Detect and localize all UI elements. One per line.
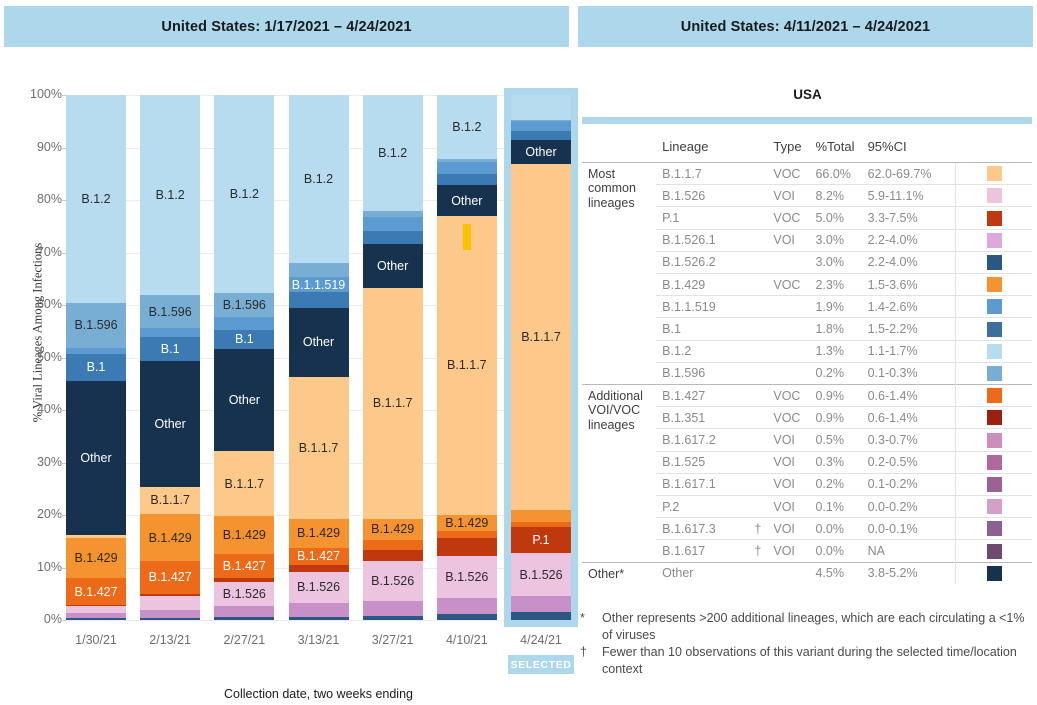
bar-segment-label: B.1.429 [445,516,488,530]
cell-confidence-interval: 0.0-0.1% [862,518,956,540]
bar-segment-B.1.1.519[interactable] [363,217,423,231]
bar-segment-B.1.526.2[interactable] [363,616,423,620]
lineage-table-panel: USA LineageType%Total95%CIMostcommonline… [578,55,1037,705]
cell-lineage: B.1.617 [656,540,748,562]
bar-segment-label: B.1.427 [74,585,117,599]
x-tick-label[interactable]: 2/13/21 [130,633,210,647]
bar-segment-B.1.526.2[interactable] [437,614,497,620]
cell-confidence-interval: 0.0-0.2% [862,496,956,518]
y-tick-label: 60% [16,297,62,311]
cell-lineage: B.1.429 [656,274,748,296]
bar-segment-B.1.1.519[interactable] [214,317,274,330]
cell-lineage: P.1 [656,207,748,229]
cell-dagger: † [748,518,767,540]
bar-segment-B.1.526.2[interactable] [214,617,274,620]
cell-lineage: B.1.1.7 [656,163,748,185]
cell-percent-total: 5.0% [809,207,861,229]
cell-confidence-interval: 0.3-0.7% [862,429,956,451]
cell-lineage: B.1.427 [656,385,748,407]
bar-segment-B.1.526.1[interactable] [289,603,349,617]
bar-segment-label: B.1.526 [223,587,266,601]
cell-type: VOI [767,518,809,540]
x-axis-title: Collection date, two weeks ending [66,687,571,701]
cell-lineage: B.1.526 [656,185,748,207]
bar-segment-B.1.596[interactable] [437,159,497,162]
x-tick-label[interactable]: 1/30/21 [56,633,136,647]
bar-segment-P.1[interactable] [363,550,423,562]
col-swatch [956,135,1032,163]
x-tick-label[interactable]: 4/10/21 [427,633,507,647]
bar-segment-label: B.1 [87,360,106,374]
cell-percent-total: 0.9% [809,407,861,429]
legend-swatch [987,255,1002,270]
legend-swatch [987,166,1002,181]
col-pct: %Total [809,135,861,163]
cell-confidence-interval: 0.1-0.3% [862,362,956,384]
bar-segment-B.1.429[interactable]: B.1.429 [66,538,126,578]
cell-confidence-interval: NA [862,540,956,562]
legend-swatch [987,566,1002,581]
cell-confidence-interval: 1.1-1.7% [862,340,956,362]
bar-segment-B.1.427[interactable]: B.1.427 [289,548,349,565]
cell-color-swatch [956,451,1032,473]
lineage-stacked-bar-chart: % Viral Lineages Among Infections 0%10%2… [0,55,575,705]
cell-type: VOC [767,163,809,185]
bar-segment-B.1[interactable] [511,131,571,140]
bar-segment-label: B.1.2 [156,188,185,202]
row-group-label: AdditionalVOI/VOClineages [582,385,656,563]
bar-segment-B.1.427[interactable]: B.1.427 [214,554,274,578]
right-panel-title: United States: 4/11/2021 – 4/24/2021 [578,6,1033,47]
bar-segment-B.1.526[interactable] [140,596,200,610]
x-tick-label[interactable]: 3/27/21 [353,633,433,647]
footnote-marker: † [580,644,602,678]
legend-swatch [987,455,1002,470]
cell-color-swatch [956,163,1032,185]
cell-percent-total: 4.5% [809,562,861,584]
col-type: Type [767,135,809,163]
cell-dagger [748,451,767,473]
table-header-row: LineageType%Total95%CI [582,135,1032,163]
cell-dagger [748,207,767,229]
bar-segment-label: B.1.427 [223,559,266,573]
bar-segment-label: B.1.526 [371,574,414,588]
legend-swatch [987,477,1002,492]
cell-lineage: B.1.525 [656,451,748,473]
cell-confidence-interval: 0.1-0.2% [862,473,956,495]
bar-segment-B.1[interactable] [363,231,423,244]
bar-segment-B.1.2[interactable]: B.1.2 [437,95,497,159]
bar-segment-label: B.1.2 [230,187,259,201]
bar-segment-B.1.1.519[interactable] [437,162,497,174]
cell-lineage: B.1.526.2 [656,251,748,273]
bar-segment-B.1.2[interactable]: B.1.2 [66,95,126,303]
legend-swatch [987,544,1002,559]
cell-type [767,362,809,384]
bar-segment-label: B.1.1.7 [373,396,413,410]
plot-area: B.1.427B.1.429OtherB.1B.1.596B.1.2B.1.42… [66,95,571,620]
y-tick-label: 50% [16,350,62,364]
bar-segment-B.1.1.7[interactable]: B.1.1.7 [511,164,571,511]
y-tick-label: 20% [16,507,62,521]
legend-swatch [987,410,1002,425]
col-ci: 95%CI [862,135,956,163]
bar-segment-label: B.1.2 [378,146,407,160]
cell-percent-total: 0.9% [809,385,861,407]
bar-segment-label: Other [80,451,111,465]
bar-segment-label: B.1.2 [452,120,481,134]
bar-segment-Other[interactable]: Other [140,361,200,487]
table-title: USA [578,87,1037,102]
bar-segment-B.1.596[interactable]: B.1.596 [140,295,200,328]
bar-segment-B.1.1.519[interactable] [511,121,571,131]
cell-type [767,340,809,362]
bar-segment-B.1.596[interactable]: B.1.596 [214,293,274,317]
selected-badge: SELECTED [508,655,574,674]
bar-segment-B.1.596[interactable] [363,211,423,218]
cell-percent-total: 66.0% [809,163,861,185]
bar-segment-B.1.1.519[interactable] [66,348,126,354]
cell-color-swatch [956,207,1032,229]
bar-segment-B.1.526.2[interactable] [289,617,349,620]
bar-segment-label: B.1.1.7 [299,441,339,455]
bar-segment-B.1[interactable]: B.1 [214,330,274,349]
cell-lineage: B.1.1.519 [656,296,748,318]
cell-type: VOI [767,473,809,495]
cell-percent-total: 0.1% [809,496,861,518]
footnotes: *Other represents >200 additional lineag… [580,610,1037,678]
bar-segment-label: B.1.2 [304,172,333,186]
cell-lineage: B.1.617.3 [656,518,748,540]
cell-percent-total: 3.0% [809,251,861,273]
legend-swatch [987,277,1002,292]
cell-color-swatch [956,318,1032,340]
bar-segment-P.1[interactable] [437,538,497,557]
bar-segment-B.1.526.1[interactable] [363,601,423,616]
bar-segment-B.1.429[interactable] [511,510,571,522]
legend-swatch [987,233,1002,248]
bar-segment-B.1.596[interactable] [511,120,571,121]
bar-segment-B.1.526.1[interactable] [437,598,497,613]
y-tick-label: 30% [16,455,62,469]
cell-lineage: B.1.351 [656,407,748,429]
bar-segment-Other[interactable]: Other [214,349,274,451]
bar-segment-Other[interactable]: Other [363,244,423,288]
cell-confidence-interval: 3.8-5.2% [862,562,956,584]
x-tick-label[interactable]: 3/13/21 [279,633,359,647]
hover-marker [463,224,471,250]
legend-swatch [987,499,1002,514]
cell-type: VOI [767,540,809,562]
cell-type: VOI [767,185,809,207]
bar-segment-P.1[interactable] [289,565,349,572]
bar-segment-B.1.596[interactable] [289,263,349,277]
bar-segment-label: B.1.1.7 [521,330,561,344]
cell-type: VOI [767,496,809,518]
cell-color-swatch [956,540,1032,562]
bar-segment-Other[interactable]: Other [437,185,497,215]
x-tick-label[interactable]: 2/27/21 [204,633,284,647]
bar-segment-B.1.526.2[interactable] [140,618,200,620]
bar-segment-B.1.526[interactable]: B.1.526 [214,582,274,606]
bar-segment-label: B.1.1.519 [292,278,346,292]
cell-dagger [748,185,767,207]
cell-color-swatch [956,429,1032,451]
bar-segment-label: B.1.429 [297,526,340,540]
bar-segment-B.1.429[interactable]: B.1.429 [289,519,349,548]
y-tick-label: 100% [16,87,62,101]
legend-swatch [987,211,1002,226]
bar-segment-B.1.429[interactable]: B.1.429 [140,514,200,561]
bar-segment-B.1.427[interactable]: B.1.427 [140,561,200,594]
bar-segment-B.1.526.1[interactable] [511,596,571,612]
cell-confidence-interval: 0.6-1.4% [862,407,956,429]
cell-confidence-interval: 2.2-4.0% [862,251,956,273]
bar-3-13-21[interactable]: B.1.526B.1.427B.1.429B.1.1.7OtherB.1.1.5… [289,95,349,620]
bar-segment-B.1.526.1[interactable] [66,613,126,618]
bar-segment-B.1.2[interactable]: B.1.2 [289,95,349,263]
bar-2-13-21[interactable]: B.1.427B.1.429B.1.1.7OtherB.1B.1.596B.1.… [140,95,200,620]
bar-segment-B.1.427[interactable] [363,540,423,550]
bar-segment-label: P.1 [532,533,549,547]
bar-segment-label: B.1.526 [445,570,488,584]
grid-line [66,620,567,621]
bar-segment-label: Other [451,194,482,208]
bar-segment-label: Other [525,145,556,159]
cell-color-swatch [956,496,1032,518]
cell-dagger [748,407,767,429]
cell-percent-total: 0.5% [809,429,861,451]
table-row[interactable]: MostcommonlineagesB.1.1.7VOC66.0%62.0-69… [582,163,1032,185]
cell-dagger [748,473,767,495]
bar-segment-label: B.1.1.7 [150,493,190,507]
bar-segment-B.1.526.1[interactable] [140,610,200,618]
cell-lineage: B.1.2 [656,340,748,362]
legend-swatch [987,299,1002,314]
bar-segment-B.1.1.7[interactable]: B.1.1.7 [140,487,200,514]
bar-segment-B.1.429[interactable]: B.1.429 [363,519,423,540]
cell-type: VOC [767,385,809,407]
cell-color-swatch [956,229,1032,251]
bar-segment-B.1.526[interactable]: B.1.526 [511,553,571,596]
cell-dagger [748,318,767,340]
cell-type [767,562,809,584]
bar-segment-label: B.1.526 [297,580,340,594]
bar-segment-P.1[interactable] [66,605,126,606]
cell-percent-total: 0.0% [809,540,861,562]
col-lineage: Lineage [656,135,748,163]
bar-segment-B.1.526[interactable]: B.1.526 [437,556,497,598]
table-row[interactable]: AdditionalVOI/VOClineagesB.1.427VOC0.9%0… [582,385,1032,407]
y-axis-ticks: 0%10%20%30%40%50%60%70%80%90%100% [8,55,62,630]
bar-2-27-21[interactable]: B.1.526B.1.427B.1.429B.1.1.7OtherB.1B.1.… [214,95,274,620]
cell-percent-total: 1.9% [809,296,861,318]
bar-segment-B.1.526[interactable]: B.1.526 [289,572,349,604]
bar-segment-B.1.2[interactable] [511,95,571,120]
bar-segment-B.1.526[interactable] [66,606,126,613]
cell-percent-total: 2.3% [809,274,861,296]
bar-segment-B.1.526.2[interactable] [511,612,571,620]
cell-type: VOC [767,274,809,296]
cell-color-swatch [956,407,1032,429]
bar-segment-B.1.429[interactable]: B.1.429 [214,516,274,554]
y-tick-label: 90% [16,140,62,154]
cell-lineage: Other [656,562,748,584]
legend-swatch [987,188,1002,203]
cell-percent-total: 1.3% [809,340,861,362]
bar-segment-B.1.1.7[interactable]: B.1.1.7 [437,216,497,515]
bar-segment-B.1.1.519[interactable] [140,328,200,336]
cell-percent-total: 0.0% [809,518,861,540]
bar-segment-label: B.1.1.7 [447,358,487,372]
cell-lineage: B.1 [656,318,748,340]
cell-percent-total: 8.2% [809,185,861,207]
bar-segment-B.1.1.7[interactable]: B.1.1.7 [363,288,423,519]
bar-segment-label: B.1.429 [371,522,414,536]
footnote-text: Other represents >200 additional lineage… [602,610,1037,644]
bar-segment-B.1[interactable]: B.1 [66,354,126,381]
bar-segment-B.1.526.2[interactable] [66,618,126,620]
y-tick-label: 80% [16,192,62,206]
dashboard-root: United States: 1/17/2021 – 4/24/2021 Uni… [0,0,1037,705]
bar-segment-B.1[interactable] [437,174,497,185]
cell-type: VOI [767,451,809,473]
title-rule [582,117,1032,124]
cell-confidence-interval: 62.0-69.7% [862,163,956,185]
cell-color-swatch [956,274,1032,296]
bar-3-27-21[interactable]: B.1.526B.1.429B.1.1.7OtherB.1.2 [363,95,423,620]
cell-color-swatch [956,296,1032,318]
cell-dagger [748,496,767,518]
bar-4-10-21[interactable]: B.1.526B.1.429B.1.1.7OtherB.1.2 [437,95,497,620]
cell-dagger [748,562,767,584]
cell-color-swatch [956,251,1032,273]
cell-dagger [748,229,767,251]
row-group-label: Mostcommonlineages [582,163,656,385]
cell-type [767,318,809,340]
cell-color-swatch [956,340,1032,362]
bar-segment-B.1.1.519[interactable]: B.1.1.519 [289,277,349,293]
cell-percent-total: 0.2% [809,473,861,495]
bar-segment-label: B.1.429 [149,531,192,545]
cell-confidence-interval: 1.5-2.2% [862,318,956,340]
bar-segment-P.1[interactable] [214,578,274,582]
bar-segment-P.1[interactable]: P.1 [511,527,571,553]
cell-lineage: B.1.526.1 [656,229,748,251]
footnote-text: Fewer than 10 observations of this varia… [602,644,1037,678]
bar-segment-label: B.1.427 [297,549,340,563]
bar-1-30-21[interactable]: B.1.427B.1.429OtherB.1B.1.596B.1.2 [66,95,126,620]
bar-segment-B.1.427[interactable] [437,531,497,538]
bar-segment-label: B.1.596 [223,298,266,312]
legend-swatch [987,388,1002,403]
bar-segment-label: B.1.429 [223,528,266,542]
cell-lineage: P.2 [656,496,748,518]
bar-segment-label: Other [303,335,334,349]
bar-segment-label: B.1.1.7 [225,477,265,491]
bar-segment-B.1.1.7[interactable] [66,535,126,538]
y-tick-label: 40% [16,402,62,416]
cell-color-swatch [956,518,1032,540]
lineage-table-container: LineageType%Total95%CIMostcommonlineages… [582,135,1032,584]
cell-confidence-interval: 3.3-7.5% [862,207,956,229]
cell-type: VOI [767,229,809,251]
cell-percent-total: 0.2% [809,362,861,384]
bar-segment-label: B.1.2 [81,192,110,206]
y-tick-label: 10% [16,560,62,574]
cell-color-swatch [956,562,1032,584]
bar-segment-B.1.1.7[interactable]: B.1.1.7 [214,451,274,516]
bar-segment-label: Other [377,259,408,273]
cell-type: VOI [767,429,809,451]
cell-percent-total: 1.8% [809,318,861,340]
cell-dagger [748,163,767,185]
legend-swatch [987,433,1002,448]
cell-dagger [748,340,767,362]
bar-segment-B.1.526[interactable]: B.1.526 [363,561,423,601]
bar-segment-label: Other [155,417,186,431]
cell-type [767,296,809,318]
cell-confidence-interval: 1.5-3.6% [862,274,956,296]
footnote: †Fewer than 10 observations of this vari… [580,644,1037,678]
cell-lineage: B.1.617.2 [656,429,748,451]
bar-segment-label: B.1.429 [74,551,117,565]
bar-segment-label: Other [229,393,260,407]
bar-segment-B.1.427[interactable]: B.1.427 [66,578,126,605]
bar-segment-B.1.2[interactable]: B.1.2 [140,95,200,295]
bar-segment-Other[interactable]: Other [289,308,349,377]
footnote: *Other represents >200 additional lineag… [580,610,1037,644]
bar-segment-B.1.526.1[interactable] [214,606,274,618]
bar-segment-P.1[interactable] [140,594,200,596]
y-tick-label: 70% [16,245,62,259]
row-group-label: Other* [582,562,656,584]
bar-segment-B.1.427[interactable] [511,522,571,527]
cell-dagger [748,429,767,451]
bar-segment-label: B.1 [235,332,254,346]
bar-segment-Other[interactable]: Other [511,140,571,164]
cell-dagger: † [748,540,767,562]
legend-swatch [987,521,1002,536]
bar-segment-label: B.1.526 [519,568,562,582]
cell-confidence-interval: 0.6-1.4% [862,385,956,407]
bar-4-24-21[interactable]: B.1.526P.1B.1.1.7Other [511,95,571,620]
cell-dagger [748,251,767,273]
col-dagger [748,135,767,163]
cell-lineage: B.1.596 [656,362,748,384]
bar-segment-B.1.429[interactable]: B.1.429 [437,515,497,531]
bar-segment-B.1[interactable]: B.1 [140,337,200,361]
cell-type: VOC [767,407,809,429]
cell-dagger [748,385,767,407]
cell-type [767,251,809,273]
bar-segment-label: B.1.427 [149,570,192,584]
footnote-marker: * [580,610,602,644]
bar-segment-B.1.596[interactable]: B.1.596 [66,303,126,348]
cell-confidence-interval: 5.9-11.1% [862,185,956,207]
x-tick-label[interactable]: 4/24/21 [501,633,581,647]
legend-swatch [987,322,1002,337]
bar-segment-B.1.2[interactable]: B.1.2 [214,95,274,293]
bar-segment-label: B.1 [161,342,180,356]
table-row[interactable]: Other*Other4.5%3.8-5.2% [582,562,1032,584]
bar-segment-B.1[interactable] [289,292,349,307]
bar-segment-B.1.2[interactable]: B.1.2 [363,95,423,211]
bar-segment-B.1.1.7[interactable]: B.1.1.7 [289,377,349,519]
cell-confidence-interval: 2.2-4.0% [862,229,956,251]
bar-segment-Other[interactable]: Other [66,381,126,535]
cell-confidence-interval: 0.2-0.5% [862,451,956,473]
